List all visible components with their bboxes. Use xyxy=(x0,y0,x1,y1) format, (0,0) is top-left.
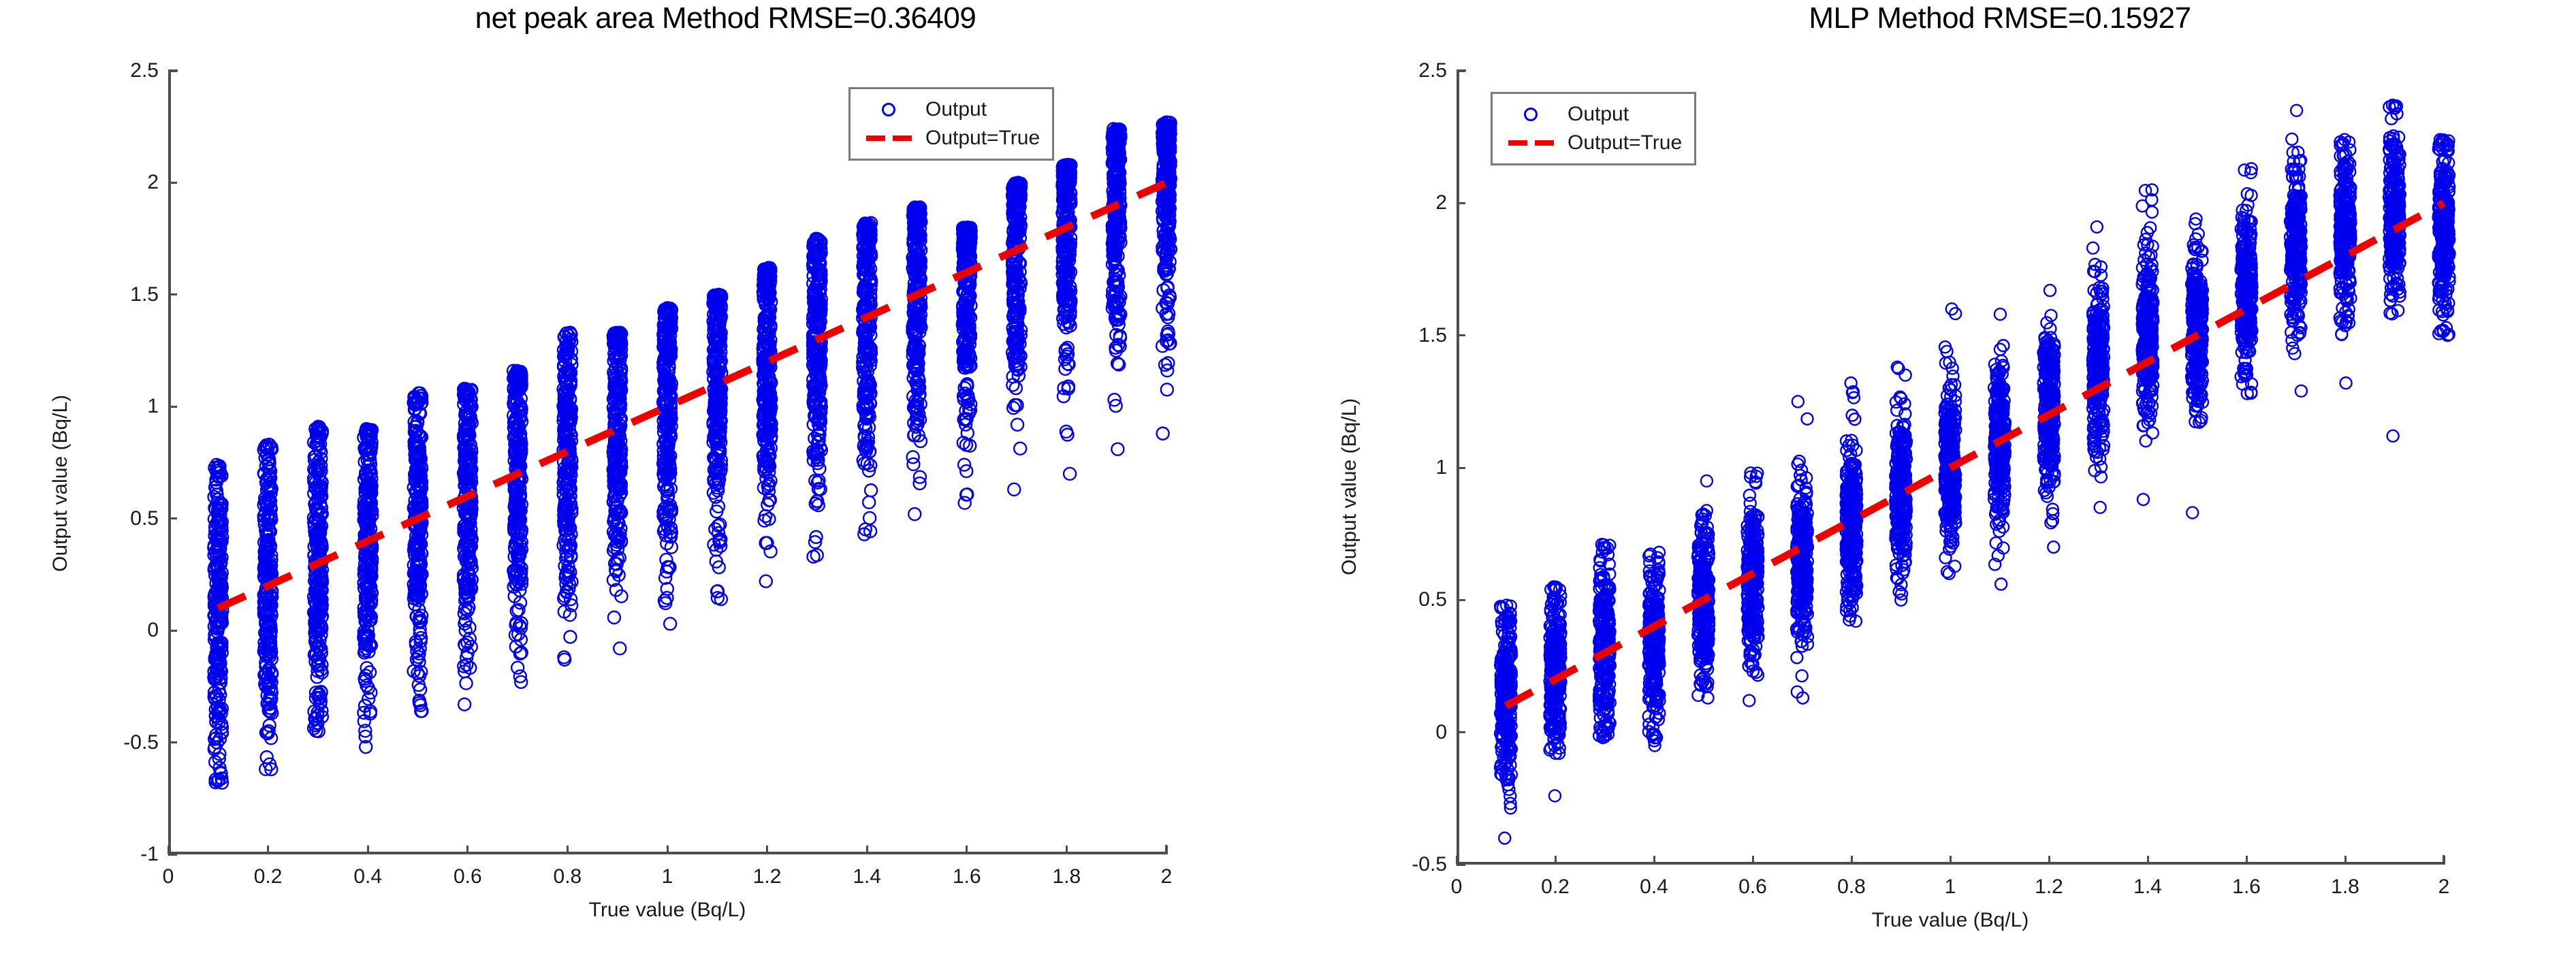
x-tick-label: 1 xyxy=(662,865,673,888)
y-tick xyxy=(168,854,177,856)
y-tick-label: 1 xyxy=(106,395,159,418)
y-axis-title-right: Output value (Bq/L) xyxy=(1338,398,1361,575)
scatter-canvas-right xyxy=(1457,71,2444,865)
x-tick-label: 0 xyxy=(163,865,174,888)
scatter-series-output xyxy=(208,116,1177,789)
x-tick-label: 2 xyxy=(2438,875,2450,899)
x-tick-label: 1.8 xyxy=(2331,875,2359,899)
x-tick xyxy=(1752,856,1754,865)
dashed-line-icon xyxy=(1501,140,1561,146)
plot-area-right xyxy=(1457,71,2444,865)
axis-cap-right xyxy=(2443,855,2445,865)
x-tick-label: 2 xyxy=(1161,865,1173,888)
circle-marker-icon xyxy=(1501,108,1561,121)
x-tick xyxy=(2147,856,2149,865)
legend-item-output-equals-true[interactable]: Output=True xyxy=(859,124,1040,152)
axis-cap-top xyxy=(168,69,178,71)
x-tick-label: 1.2 xyxy=(2035,875,2063,899)
x-tick-label: 1 xyxy=(1945,875,1956,899)
x-tick xyxy=(267,846,269,854)
x-tick xyxy=(2246,856,2248,865)
y-tick-label: -1 xyxy=(106,843,159,866)
x-tick xyxy=(367,846,369,854)
y-tick xyxy=(168,182,177,184)
chart-panel-net-peak-area: net peak area Method RMSE=0.36409 00.20.… xyxy=(0,0,1288,964)
y-tick-label: 1.5 xyxy=(106,283,159,306)
legend-item-output[interactable]: Output xyxy=(859,95,1040,124)
axis-cap-right xyxy=(1165,845,1167,854)
y-tick-label: 2 xyxy=(1394,191,1447,214)
x-tick-label: 1.4 xyxy=(853,865,881,888)
x-tick-label: 1.6 xyxy=(953,865,981,888)
y-tick xyxy=(168,406,177,408)
x-axis-title-left: True value (Bq/L) xyxy=(589,899,746,922)
x-tick-label: 0.8 xyxy=(1837,875,1866,899)
x-tick xyxy=(1066,846,1068,854)
x-tick-label: 1.8 xyxy=(1053,865,1081,888)
chart-panel-mlp: MLP Method RMSE=0.15927 00.20.40.60.811.… xyxy=(1288,0,2576,964)
x-tick xyxy=(1555,856,1557,865)
y-tick xyxy=(168,517,177,519)
x-tick xyxy=(2048,856,2050,865)
reference-line-output-equals-true xyxy=(218,182,1166,608)
x-tick xyxy=(1950,856,1952,865)
chart-title-right: MLP Method RMSE=0.15927 xyxy=(1288,1,2576,35)
y-tick-label: 2.5 xyxy=(106,59,159,82)
y-tick-label: 1.5 xyxy=(1394,324,1447,347)
y-tick xyxy=(1457,202,1465,204)
y-tick-label: -0.5 xyxy=(106,731,159,754)
y-tick xyxy=(168,293,177,295)
scatter-series-output xyxy=(1495,99,2455,844)
y-tick-label: -0.5 xyxy=(1394,853,1447,876)
legend-left[interactable]: Output Output=True xyxy=(848,87,1054,161)
y-tick xyxy=(168,630,177,632)
x-tick-label: 0.6 xyxy=(1738,875,1767,899)
x-tick-label: 1.4 xyxy=(2133,875,2162,899)
y-tick-label: 0 xyxy=(106,619,159,642)
scatter-canvas-left xyxy=(168,71,1166,854)
x-tick xyxy=(1851,856,1853,865)
x-tick xyxy=(667,846,669,854)
x-tick-label: 0.6 xyxy=(454,865,482,888)
legend-label-output-equals-true: Output=True xyxy=(1568,131,1682,155)
figure-root: net peak area Method RMSE=0.36409 00.20.… xyxy=(0,0,2576,964)
x-tick-label: 1.2 xyxy=(753,865,782,888)
legend-label-output: Output xyxy=(925,98,987,121)
y-tick xyxy=(1457,731,1465,733)
chart-title-left: net peak area Method RMSE=0.36409 xyxy=(0,1,1369,35)
x-tick-label: 0 xyxy=(1451,875,1463,899)
legend-right[interactable]: Output Output=True xyxy=(1491,92,1696,165)
legend-label-output: Output xyxy=(1568,103,1629,126)
x-tick-label: 0.4 xyxy=(353,865,382,888)
y-tick-label: 2.5 xyxy=(1394,59,1447,82)
dashed-line-icon xyxy=(859,135,919,141)
x-tick-label: 0.2 xyxy=(1541,875,1570,899)
y-tick xyxy=(168,741,177,743)
y-tick-label: 0.5 xyxy=(1394,588,1447,611)
x-tick-label: 0.2 xyxy=(254,865,283,888)
axis-cap-top xyxy=(1457,69,1466,71)
y-tick-label: 0.5 xyxy=(106,507,159,530)
x-tick xyxy=(966,846,968,854)
x-tick xyxy=(2344,856,2347,865)
legend-item-output-equals-true[interactable]: Output=True xyxy=(1501,129,1682,157)
legend-label-output-equals-true: Output=True xyxy=(925,127,1040,150)
x-tick-label: 1.6 xyxy=(2232,875,2261,899)
legend-item-output[interactable]: Output xyxy=(1501,100,1682,129)
circle-marker-icon xyxy=(859,103,919,116)
y-tick xyxy=(1457,599,1465,601)
y-axis-title-left: Output value (Bq/L) xyxy=(49,395,72,572)
x-tick xyxy=(466,846,468,854)
y-tick-label: 1 xyxy=(1394,456,1447,479)
x-tick xyxy=(866,846,868,854)
y-tick-label: 0 xyxy=(1394,721,1447,744)
x-tick xyxy=(766,846,768,854)
x-tick xyxy=(567,846,569,854)
x-tick-label: 0.4 xyxy=(1640,875,1668,899)
y-tick xyxy=(1457,334,1465,336)
x-tick-label: 0.8 xyxy=(554,865,582,888)
y-tick-label: 2 xyxy=(106,171,159,194)
x-tick xyxy=(1653,856,1655,865)
x-axis-title-right: True value (Bq/L) xyxy=(1872,909,2029,932)
y-tick xyxy=(1457,864,1465,866)
y-tick xyxy=(1457,467,1465,469)
plot-area-left xyxy=(168,71,1166,854)
